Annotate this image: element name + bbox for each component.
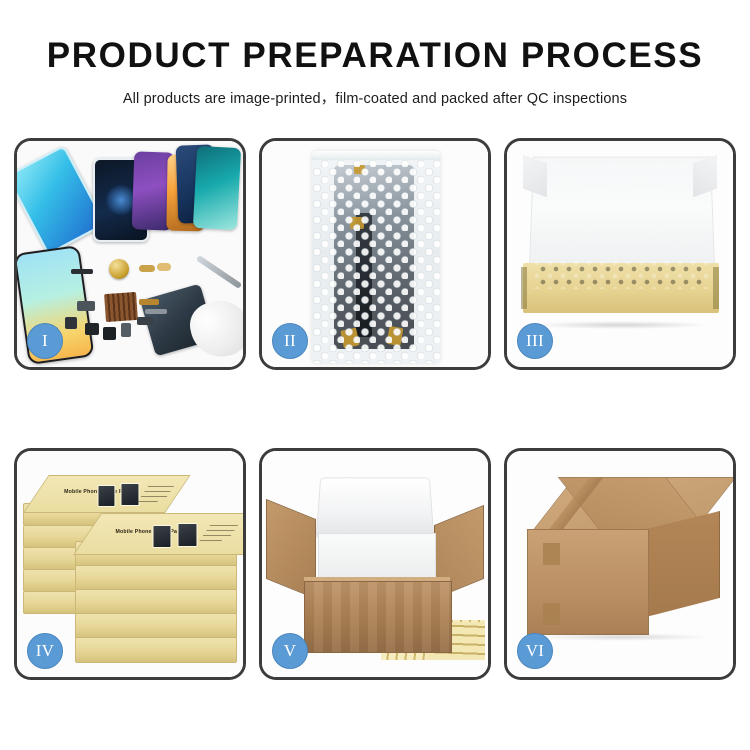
box-edge-right bbox=[713, 267, 719, 309]
box-print-line bbox=[210, 525, 238, 526]
box-window-image bbox=[177, 523, 197, 547]
step-badge-2: II bbox=[272, 323, 308, 359]
box-window-image bbox=[152, 525, 171, 548]
box-print-line bbox=[148, 486, 174, 487]
logic-board-chip bbox=[104, 292, 138, 322]
stacked-box bbox=[75, 589, 237, 615]
step-badge-1: I bbox=[27, 323, 63, 359]
page-header: PRODUCT PREPARATION PROCESS All products… bbox=[0, 0, 750, 108]
drop-shadow bbox=[533, 633, 713, 641]
box-top-face-front: Mobile Phone Spare Parts bbox=[73, 513, 243, 555]
process-step-5: V bbox=[259, 448, 491, 680]
box-print-line bbox=[138, 501, 158, 502]
component-part bbox=[71, 269, 93, 274]
component-part bbox=[65, 317, 77, 329]
component-part bbox=[137, 317, 153, 325]
component-part bbox=[121, 323, 131, 337]
component-part bbox=[157, 263, 171, 271]
box-print-line bbox=[203, 535, 231, 536]
box-edge-left bbox=[521, 267, 527, 309]
process-step-3: III bbox=[504, 138, 736, 370]
stacked-box bbox=[75, 565, 237, 591]
step-badge-5: V bbox=[272, 633, 308, 669]
process-step-1: I bbox=[14, 138, 246, 370]
step-badge-6: VI bbox=[517, 633, 553, 669]
foam-padding bbox=[533, 259, 709, 289]
stacked-box bbox=[75, 637, 237, 663]
carton-tab bbox=[543, 603, 560, 625]
page-subtitle: All products are image-printed，film-coat… bbox=[0, 87, 750, 108]
box-lid-panel bbox=[529, 157, 715, 270]
component-part bbox=[85, 323, 99, 335]
component-part bbox=[145, 309, 167, 314]
box-window-image bbox=[120, 483, 139, 506]
component-part bbox=[103, 327, 116, 340]
carton-tab bbox=[543, 543, 560, 565]
page-title: PRODUCT PREPARATION PROCESS bbox=[0, 38, 750, 75]
box-print-line bbox=[200, 540, 222, 541]
bubble-wrap-bag bbox=[312, 151, 440, 363]
step-badge-3: III bbox=[517, 323, 553, 359]
box-print-label: Mobile Phone Spare Parts bbox=[116, 529, 185, 535]
copper-coil-part bbox=[109, 259, 129, 279]
stacked-box bbox=[75, 613, 237, 639]
component-part bbox=[77, 301, 95, 311]
process-step-grid: I II bbox=[14, 138, 736, 680]
corrugation-texture bbox=[305, 582, 451, 652]
teal-display bbox=[193, 146, 241, 230]
process-step-2: II bbox=[259, 138, 491, 370]
carton-body bbox=[304, 581, 452, 653]
box-top-face-back: Mobile Phone Spare Parts bbox=[23, 475, 191, 513]
bag-seal bbox=[312, 151, 440, 160]
foam-lid bbox=[316, 477, 435, 539]
box-print-line bbox=[206, 530, 234, 531]
page-root: PRODUCT PREPARATION PROCESS All products… bbox=[0, 0, 750, 750]
process-step-6: VI bbox=[504, 448, 736, 680]
process-step-4: Mobile Phone Spare Parts Mobile P bbox=[14, 448, 246, 680]
component-part bbox=[139, 299, 159, 305]
drop-shadow bbox=[531, 321, 711, 329]
step-badge-4: IV bbox=[27, 633, 63, 669]
box-print-line bbox=[141, 496, 167, 497]
component-part bbox=[139, 265, 155, 272]
box-window-image bbox=[97, 485, 115, 507]
box-print-line bbox=[144, 491, 170, 492]
bubble-wrap-texture bbox=[312, 151, 440, 363]
